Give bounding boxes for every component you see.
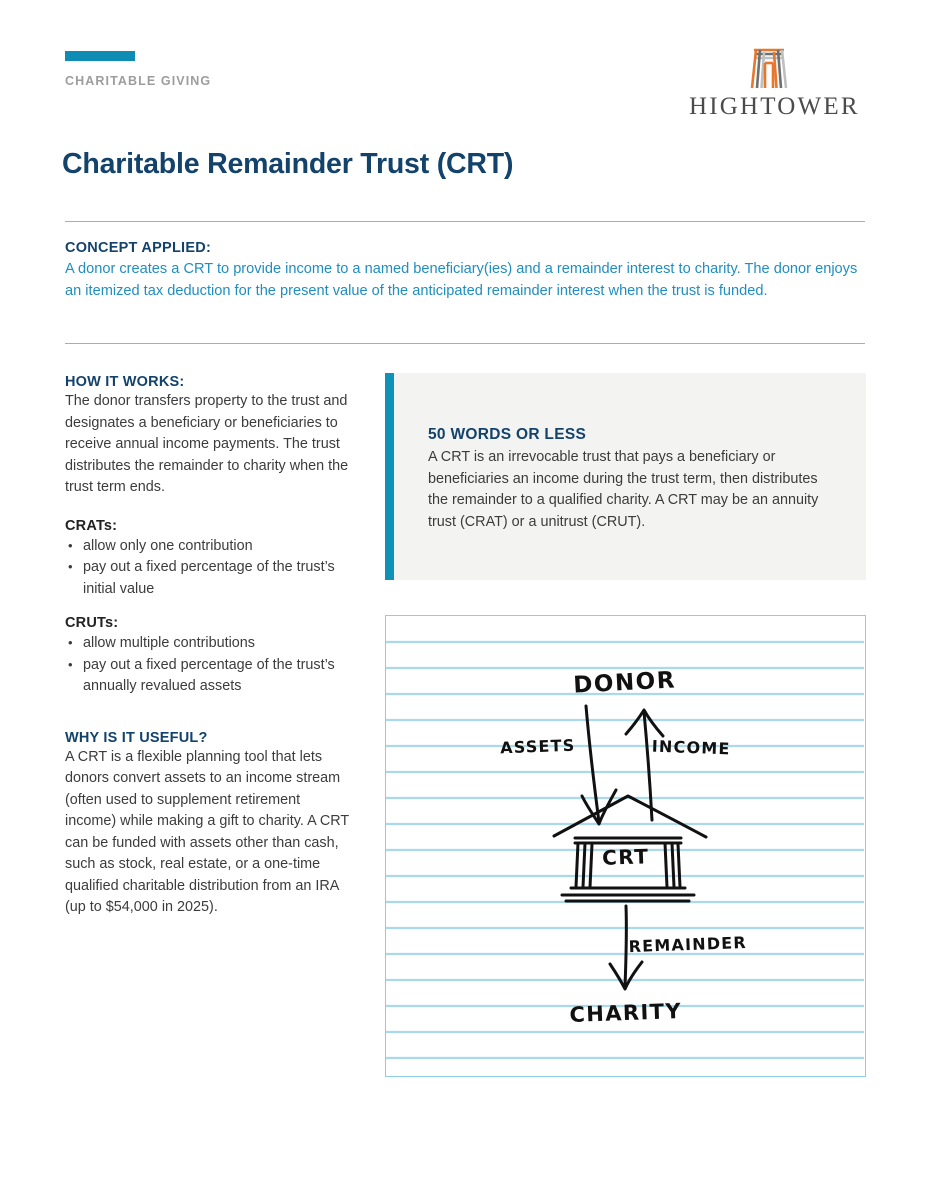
divider-bottom: [65, 343, 865, 344]
list-item: allow only one contribution: [65, 536, 355, 558]
accent-bar: [65, 51, 135, 61]
label-assets: ASSETS: [500, 736, 576, 758]
label-charity: CHARITY: [569, 999, 682, 1027]
divider-top: [65, 221, 865, 222]
concept-applied-heading: CONCEPT APPLIED:: [65, 240, 869, 256]
cruts-bullet-list: allow multiple contributions pay out a f…: [65, 633, 355, 698]
crats-heading: CRATs:: [65, 518, 355, 534]
concept-applied-body: A donor creates a CRT to provide income …: [65, 259, 869, 302]
how-it-works-body: The donor transfers property to the trus…: [65, 391, 355, 499]
callout-accent-bar: [385, 373, 394, 580]
diagram-labels: DONOR ASSETS INCOME CRT REMAINDER CHARIT…: [500, 667, 747, 1027]
how-it-works-heading: HOW IT WORKS:: [65, 374, 355, 390]
category-eyebrow: CHARITABLE GIVING: [65, 74, 211, 88]
callout-heading: 50 WORDS OR LESS: [428, 426, 838, 444]
label-donor: DONOR: [573, 667, 677, 698]
hightower-wordmark: HIGHTOWER: [689, 94, 849, 119]
label-remainder: REMAINDER: [628, 933, 747, 956]
diagram-canvas: DONOR ASSETS INCOME CRT REMAINDER CHARIT…: [386, 616, 864, 1075]
concept-applied-section: CONCEPT APPLIED: A donor creates a CRT t…: [65, 240, 869, 302]
crt-flow-diagram: DONOR ASSETS INCOME CRT REMAINDER CHARIT…: [385, 615, 866, 1077]
cruts-heading: CRUTs:: [65, 615, 355, 631]
page-title: Charitable Remainder Trust (CRT): [62, 148, 513, 181]
document-page: CHARITABLE GIVING HIGHTOWER Charitable R…: [0, 0, 927, 1200]
left-column: HOW IT WORKS: The donor transfers proper…: [65, 374, 355, 919]
list-item: pay out a fixed percentage of the trust’…: [65, 655, 355, 698]
list-item: pay out a fixed percentage of the trust’…: [65, 557, 355, 600]
label-crt: CRT: [602, 844, 650, 870]
hightower-tower-mark: [746, 46, 792, 90]
callout-content: 50 WORDS OR LESS A CRT is an irrevocable…: [428, 426, 838, 533]
why-useful-body: A CRT is a flexible planning tool that l…: [65, 747, 355, 919]
list-item: allow multiple contributions: [65, 633, 355, 655]
hightower-logo: HIGHTOWER: [689, 46, 849, 119]
why-useful-heading: WHY IS IT USEFUL?: [65, 730, 355, 746]
crats-bullet-list: allow only one contribution pay out a fi…: [65, 536, 355, 601]
label-income: INCOME: [652, 737, 731, 759]
callout-body: A CRT is an irrevocable trust that pays …: [428, 447, 838, 533]
